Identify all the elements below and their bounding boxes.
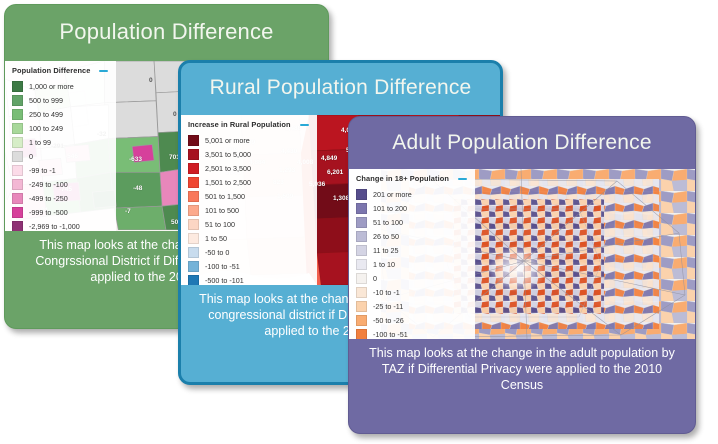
legend-entry: -2,969 to -1,000	[12, 220, 108, 231]
legend-swatch	[188, 205, 199, 216]
legend-swatch	[188, 247, 199, 258]
legend-entry: 1,000 or more	[12, 79, 108, 93]
legend-label: -50 to -26	[373, 316, 404, 325]
map-label: -633	[129, 156, 142, 163]
legend-header: Population Difference	[12, 66, 108, 75]
legend-entry: 0	[12, 149, 108, 163]
legend-label: 1 to 99	[29, 138, 51, 147]
legend-entry: 1 to 99	[12, 135, 108, 149]
legend-label: 3,501 to 5,000	[205, 150, 251, 159]
legend-label: -2,969 to -1,000	[29, 222, 80, 231]
legend-swatch	[188, 163, 199, 174]
legend-entries: 201 or more 101 to 200 51 to 100 26 to 5…	[356, 187, 467, 339]
legend-swatch	[12, 95, 23, 106]
legend-label: -99 to -1	[29, 166, 56, 175]
legend-label: 500 to 999	[29, 96, 63, 105]
legend-adult-population[interactable]: Change in 18+ Population 201 or more 101…	[349, 169, 475, 339]
legend-entry: 100 to 249	[12, 121, 108, 135]
legend-entry: 101 to 200	[356, 201, 467, 215]
legend-label: -999 to -500	[29, 208, 68, 217]
legend-entry: 11 to 25	[356, 243, 467, 257]
legend-entry: 2,501 to 3,500	[188, 161, 309, 175]
legend-entry: -100 to -51	[188, 260, 309, 274]
legend-label: -50 to 0	[205, 248, 229, 257]
legend-entries: 1,000 or more 500 to 999 250 to 499 100 …	[12, 79, 108, 231]
legend-swatch	[188, 149, 199, 160]
legend-label: 250 to 499	[29, 110, 63, 119]
legend-swatch	[356, 189, 367, 200]
map-label: -7	[125, 208, 131, 215]
legend-swatch	[356, 329, 367, 339]
legend-label: 11 to 25	[373, 246, 398, 255]
card-title-population-difference: Population Difference	[5, 5, 328, 61]
legend-label: 1 to 50	[205, 234, 227, 243]
legend-swatch	[356, 315, 367, 326]
legend-label: 0	[373, 274, 377, 283]
legend-swatch	[12, 137, 23, 148]
legend-swatch	[12, 81, 23, 92]
legend-label: 2,501 to 3,500	[205, 164, 251, 173]
legend-entry: -50 to 0	[188, 246, 309, 260]
legend-swatch	[356, 273, 367, 284]
legend-entry: -249 to -100	[12, 178, 108, 192]
legend-swatch	[356, 203, 367, 214]
legend-entry: 0	[356, 272, 467, 286]
legend-entry: 1 to 50	[188, 232, 309, 246]
legend-swatch	[188, 233, 199, 244]
legend-label: -100 to -51	[205, 262, 240, 271]
legend-label: -500 to -101	[205, 276, 244, 285]
legend-header: Increase in Rural Population	[188, 120, 309, 129]
legend-entry: -500 to -101	[188, 274, 309, 285]
legend-entry: -100 to -51	[356, 328, 467, 339]
map-label: 6,201	[327, 169, 343, 176]
maps-card-stack: Population Difference	[0, 0, 718, 444]
legend-label: -10 to -1	[373, 288, 400, 297]
legend-swatch	[188, 219, 199, 230]
legend-label: 501 to 1,500	[205, 192, 245, 201]
legend-swatch	[356, 217, 367, 228]
legend-entry: -10 to -1	[356, 286, 467, 300]
legend-rural-population[interactable]: Increase in Rural Population 5,001 or mo…	[181, 115, 317, 285]
legend-entry: 101 to 500	[188, 203, 309, 217]
legend-entries: 5,001 or more 3,501 to 5,000 2,501 to 3,…	[188, 133, 309, 285]
legend-swatch	[356, 287, 367, 298]
legend-entry: -25 to -11	[356, 300, 467, 314]
legend-label: -100 to -51	[373, 330, 408, 339]
legend-swatch	[12, 179, 23, 190]
legend-swatch	[12, 165, 23, 176]
legend-label: 5,001 or more	[205, 136, 250, 145]
legend-entry: 250 to 499	[12, 107, 108, 121]
map-label: 0	[149, 77, 153, 84]
legend-swatch	[188, 177, 199, 188]
legend-label: 201 or more	[373, 190, 412, 199]
legend-population-difference[interactable]: Population Difference 1,000 or more 500 …	[5, 61, 116, 231]
card-title-adult-population-difference: Adult Population Difference	[349, 117, 695, 169]
legend-swatch	[12, 207, 23, 218]
legend-label: 51 to 100	[205, 220, 235, 229]
legend-title: Population Difference	[12, 66, 90, 75]
legend-swatch	[12, 193, 23, 204]
card-description-adult-population-difference: This map looks at the change in the adul…	[349, 339, 695, 403]
minus-icon[interactable]	[99, 70, 108, 72]
legend-swatch	[12, 151, 23, 162]
legend-label: -499 to -250	[29, 194, 68, 203]
legend-label: 100 to 249	[29, 124, 63, 133]
legend-swatch	[356, 231, 367, 242]
legend-swatch	[188, 135, 199, 146]
minus-icon[interactable]	[458, 178, 467, 180]
legend-swatch	[188, 275, 199, 285]
legend-swatch	[356, 259, 367, 270]
card-title-rural-population-difference: Rural Population Difference	[181, 63, 500, 115]
legend-swatch	[356, 301, 367, 312]
legend-entry: 51 to 100	[188, 218, 309, 232]
legend-swatch	[12, 221, 23, 231]
legend-entry: -999 to -500	[12, 206, 108, 220]
map-adult-population-difference[interactable]: Change in 18+ Population 201 or more 101…	[349, 169, 695, 339]
legend-entry: -50 to -26	[356, 314, 467, 328]
legend-entry: 501 to 1,500	[188, 189, 309, 203]
legend-title: Increase in Rural Population	[188, 120, 291, 129]
legend-entry: 500 to 999	[12, 93, 108, 107]
legend-entry: 201 or more	[356, 187, 467, 201]
legend-entry: -99 to -1	[12, 164, 108, 178]
legend-label: 0	[29, 152, 33, 161]
minus-icon[interactable]	[300, 124, 309, 126]
legend-entry: 5,001 or more	[188, 133, 309, 147]
legend-entry: -499 to -250	[12, 192, 108, 206]
map-label: 4,849	[321, 155, 337, 162]
legend-title: Change in 18+ Population	[356, 174, 449, 183]
legend-label: 1,501 to 2,500	[205, 178, 251, 187]
legend-entry: 51 to 100	[356, 215, 467, 229]
legend-label: -249 to -100	[29, 180, 68, 189]
legend-label: 101 to 200	[373, 204, 407, 213]
legend-entry: 3,501 to 5,000	[188, 147, 309, 161]
legend-header: Change in 18+ Population	[356, 174, 467, 183]
legend-label: 101 to 500	[205, 206, 239, 215]
legend-swatch	[188, 261, 199, 272]
map-label: 0	[173, 111, 177, 118]
legend-entry: 1 to 10	[356, 257, 467, 271]
legend-label: 51 to 100	[373, 218, 403, 227]
legend-entry: 1,501 to 2,500	[188, 175, 309, 189]
map-label: 1,308	[333, 195, 349, 202]
legend-entry: 26 to 50	[356, 229, 467, 243]
legend-swatch	[356, 245, 367, 256]
card-adult-population-difference[interactable]: Adult Population Difference	[348, 116, 696, 434]
legend-label: 1,000 or more	[29, 82, 74, 91]
legend-label: -25 to -11	[373, 302, 403, 311]
legend-swatch	[188, 191, 199, 202]
map-label: -48	[133, 185, 142, 192]
legend-label: 1 to 10	[373, 260, 395, 269]
legend-label: 26 to 50	[373, 232, 399, 241]
legend-swatch	[12, 123, 23, 134]
legend-swatch	[12, 109, 23, 120]
